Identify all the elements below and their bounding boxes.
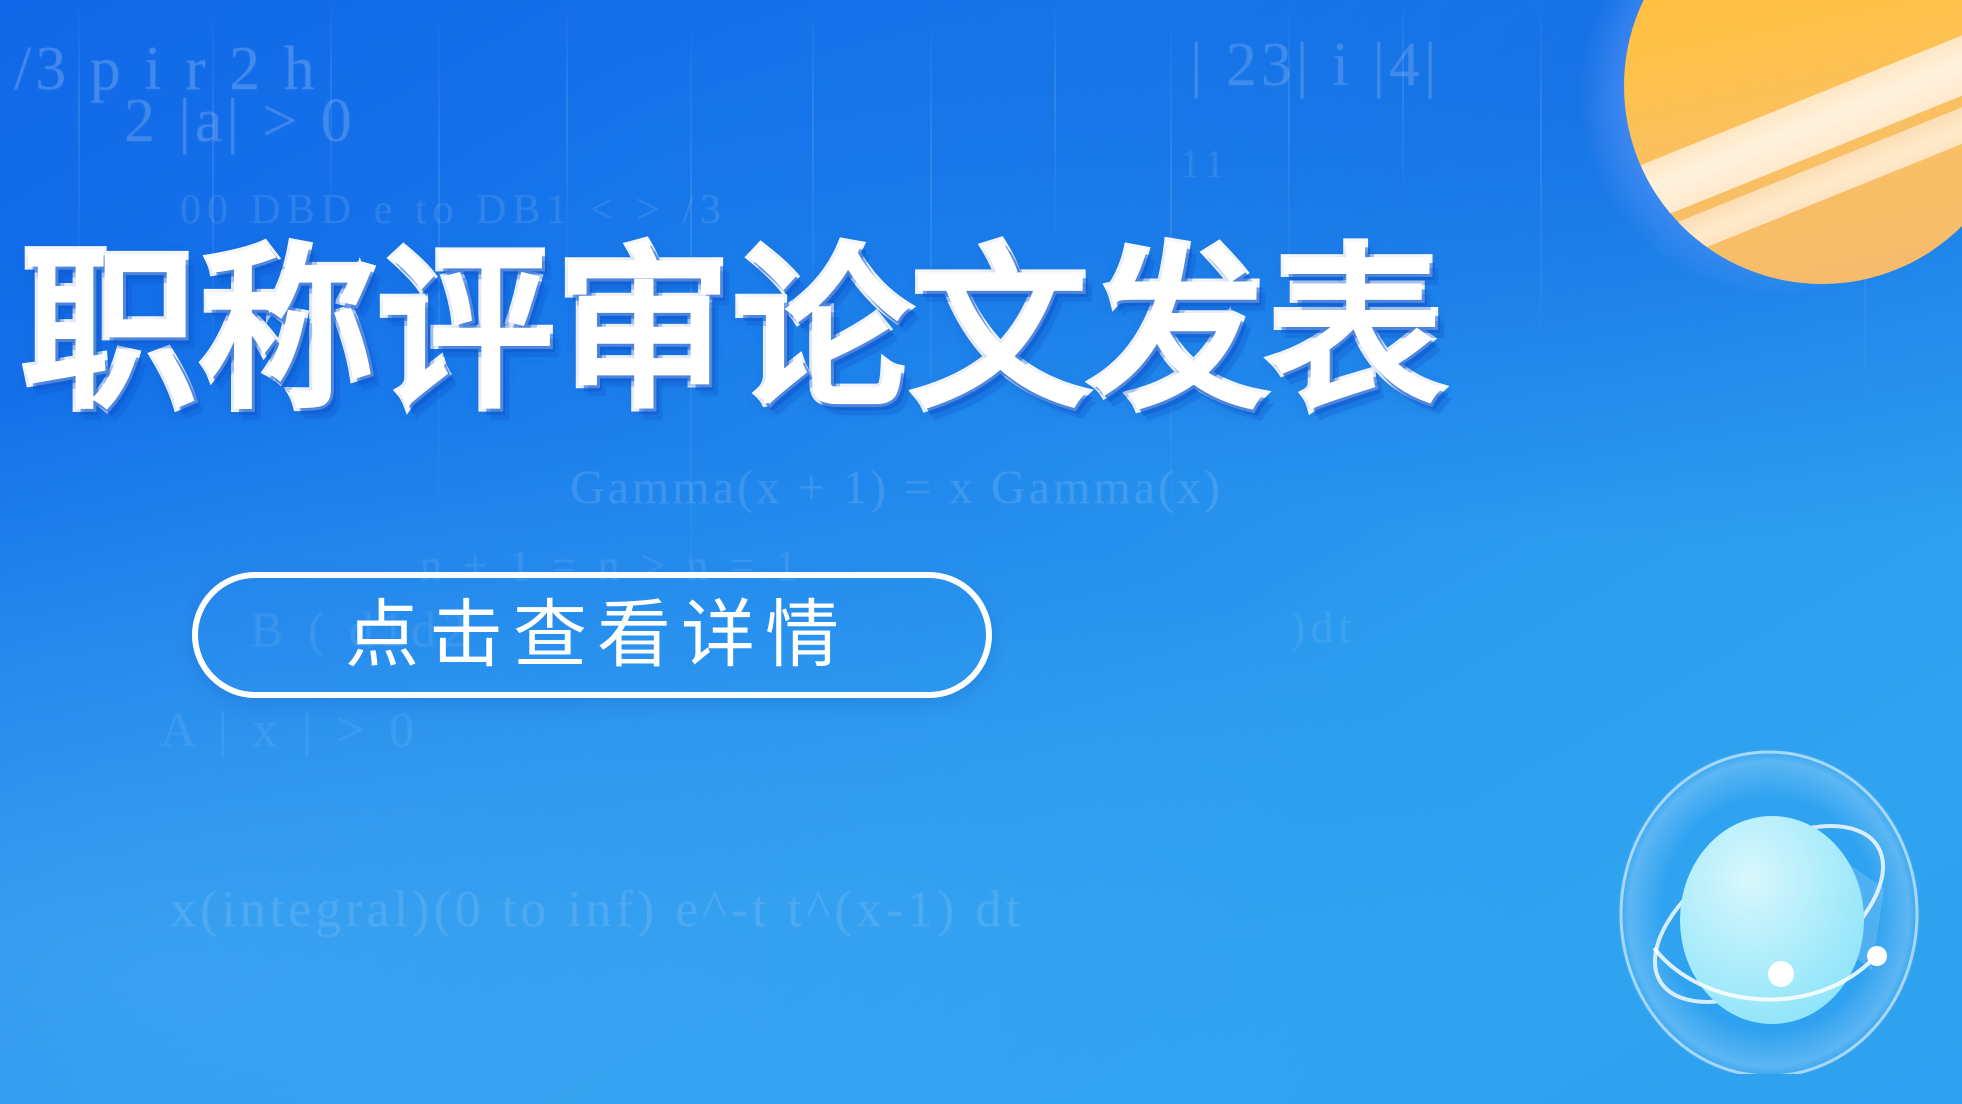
promo-banner: /3 p i r 2 h 2 |a| > 0 | 23| i |4| 00 DB…	[0, 0, 1962, 1104]
atom-halo	[1617, 748, 1921, 1074]
atom-icon	[1610, 738, 1928, 1074]
view-details-button-label: 点击查看详情	[335, 598, 849, 672]
planet-icon	[1624, 0, 1962, 284]
atom-highlight-wedge	[1824, 860, 1884, 970]
formula-text: 2 |a| > 0	[124, 86, 356, 157]
page-title: 职称评审论文发表	[22, 244, 1446, 420]
atom-electron-dot	[1768, 961, 1794, 987]
atom-outer-ring	[1621, 752, 1917, 1074]
view-details-button[interactable]: 点击查看详情	[192, 572, 992, 698]
formula-text: x(integral)(0 to inf) e^-t t^(x-1) dt	[170, 880, 1024, 939]
planet-ring-band-secondary	[1624, 69, 1962, 284]
code-rain-streaks	[0, 0, 1962, 1104]
planet-body	[1624, 0, 1962, 284]
atom-electron-dot	[1867, 946, 1887, 966]
formula-text: Gamma(x + 1) = x Gamma(x)	[570, 460, 1223, 515]
formula-text: A | x | > 0	[160, 700, 420, 758]
atom-orbit-ring-front	[1654, 948, 1876, 999]
atom-orbit-ring-back	[1625, 790, 1912, 1038]
formula-text: 00 DBD e to DB1 < > /3	[180, 186, 727, 234]
background-gradient-sheen	[0, 0, 1962, 1104]
atom-core	[1680, 816, 1864, 1024]
planet-ring-band	[1624, 0, 1962, 246]
formula-text: 11	[1180, 140, 1231, 187]
formula-text: /3 p i r 2 h	[14, 34, 319, 105]
formula-text: | 23| i |4|	[1190, 30, 1440, 101]
planet-glow	[1580, 0, 1962, 294]
formula-text: )dt	[1290, 600, 1356, 653]
